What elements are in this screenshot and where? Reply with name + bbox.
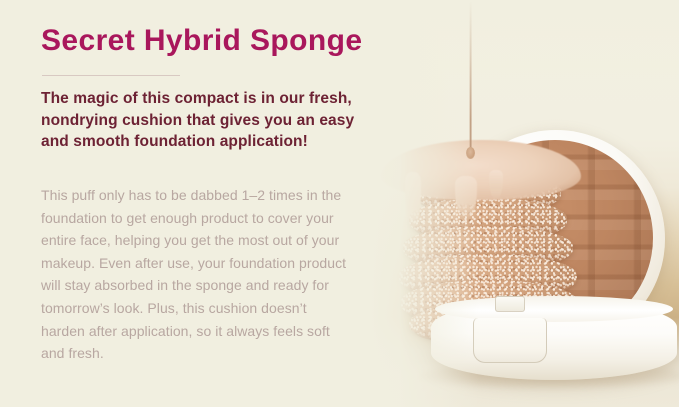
foundation-drip-stream (469, 2, 472, 154)
page-title: Secret Hybrid Sponge (41, 24, 362, 58)
compact-latch (473, 318, 547, 363)
title-divider (42, 75, 180, 76)
product-description-banner: Secret Hybrid Sponge The magic of this c… (0, 0, 679, 407)
subtitle-text: The magic of this compact is in our fres… (41, 88, 361, 153)
compact-base-rim (435, 296, 673, 322)
compact-hinge-tab (495, 296, 525, 312)
copy-block: Secret Hybrid Sponge The magic of this c… (41, 0, 371, 407)
photo-top-fade (369, 0, 679, 120)
product-photo (369, 0, 679, 407)
body-text: This puff only has to be dabbed 1–2 time… (41, 184, 353, 365)
